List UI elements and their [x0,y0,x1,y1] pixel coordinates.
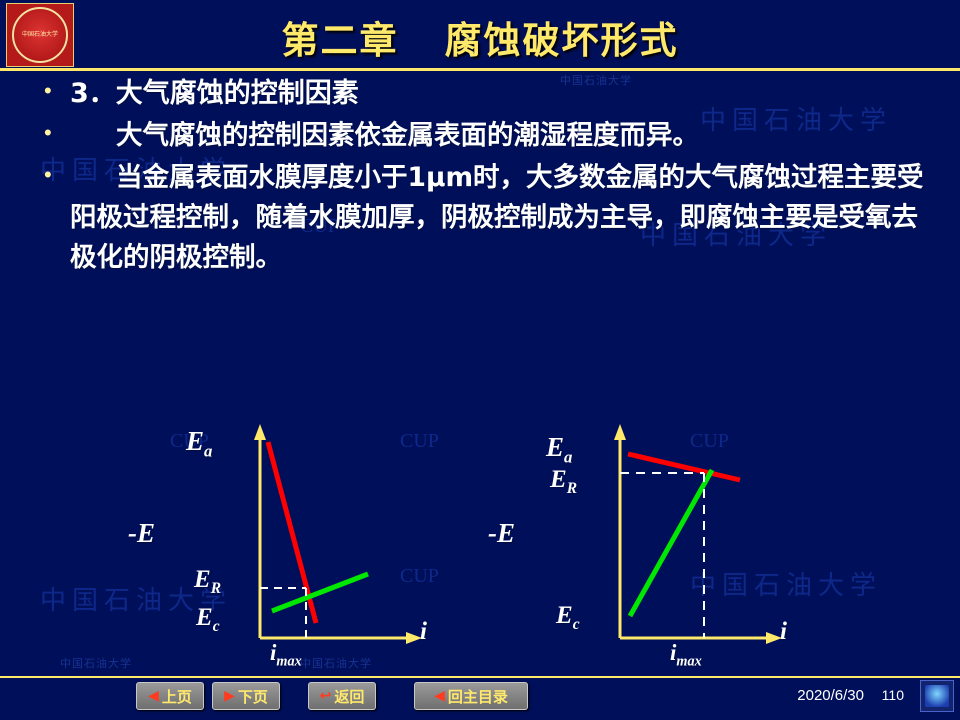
label-er: ER [550,466,577,498]
label-ea: Ea [546,432,572,467]
next-page-label: 下页 [238,686,268,707]
bullet-item: • 3．大气腐蚀的控制因素 [44,74,926,114]
label-imax: imax [270,640,302,671]
main-menu-button[interactable]: ◀ 回主目录 [414,682,528,710]
bullet-text-value: 大气腐蚀的控制因素依金属表面的潮湿程度而异。 [116,120,699,151]
slide-footer: ◀ 上页 ▶ 下页 ↩ 返回 ◀ 回主目录 2020/6/30 110 [0,678,960,720]
label-potential-axis: -E [488,518,515,549]
label-ea: Ea [186,426,212,461]
label-current-axis: i [780,618,787,646]
label-potential-axis: -E [128,518,155,549]
figure-area: Ea ER Ec -E i imax Ea ER Ec -E i imax [0,418,960,668]
slide-content: • 3．大气腐蚀的控制因素 • 大气腐蚀的控制因素依金属表面的潮湿程度而异。 •… [0,74,960,280]
bullet-text: 当金属表面水膜厚度小于1μm时，大多数金属的大气腐蚀过程主要受阳极过程控制，随着… [70,158,926,278]
anodic-control-diagram: Ea ER Ec -E i imax [120,418,540,668]
slide-header: 中国石油大学 第二章腐蚀破坏形式 [0,0,960,70]
label-ec: Ec [196,604,220,636]
bullet-text: 大气腐蚀的控制因素依金属表面的潮湿程度而异。 [70,116,699,156]
prev-page-button[interactable]: ◀ 上页 [136,682,204,710]
return-arrow-icon: ↩ [320,688,332,704]
corner-logo-inner [925,685,949,707]
label-imax: imax [670,640,702,671]
back-button[interactable]: ↩ 返回 [308,682,376,710]
bullet-text: 3．大气腐蚀的控制因素 [70,74,359,114]
next-page-button[interactable]: ▶ 下页 [212,682,280,710]
label-er: ER [194,566,221,598]
page-title: 第二章腐蚀破坏形式 [0,10,960,64]
bullet-dot-icon: • [44,116,70,150]
bullet-item: • 大气腐蚀的控制因素依金属表面的潮湿程度而异。 [44,116,926,156]
label-current-axis: i [420,618,427,646]
bullet-dot-icon: • [44,158,70,192]
slide-date: 2020/6/30 [797,687,864,704]
bullet-item: • 当金属表面水膜厚度小于1μm时，大多数金属的大气腐蚀过程主要受阳极过程控制，… [44,158,926,278]
corner-logo-icon [920,680,954,712]
cathodic-control-diagram: Ea ER Ec -E i imax [480,418,900,668]
main-menu-label: 回主目录 [448,686,508,707]
label-ec: Ec [556,602,580,634]
anodic-control-plot [120,418,540,668]
bullet-dot-icon: • [44,74,70,108]
left-arrow-icon: ◀ [148,688,159,704]
header-divider [0,68,960,71]
page-number: 110 [882,687,904,703]
page-title-chapter: 第二章 [282,19,399,62]
bullet-text-value: 当金属表面水膜厚度小于1μm时，大多数金属的大气腐蚀过程主要受阳极过程控制，随着… [70,162,924,273]
prev-page-label: 上页 [162,686,192,707]
page-title-topic: 腐蚀破坏形式 [445,19,679,62]
back-label: 返回 [334,686,364,707]
cathodic-control-plot [480,418,900,668]
right-arrow-icon: ▶ [224,688,235,704]
home-arrow-icon: ◀ [434,688,445,704]
